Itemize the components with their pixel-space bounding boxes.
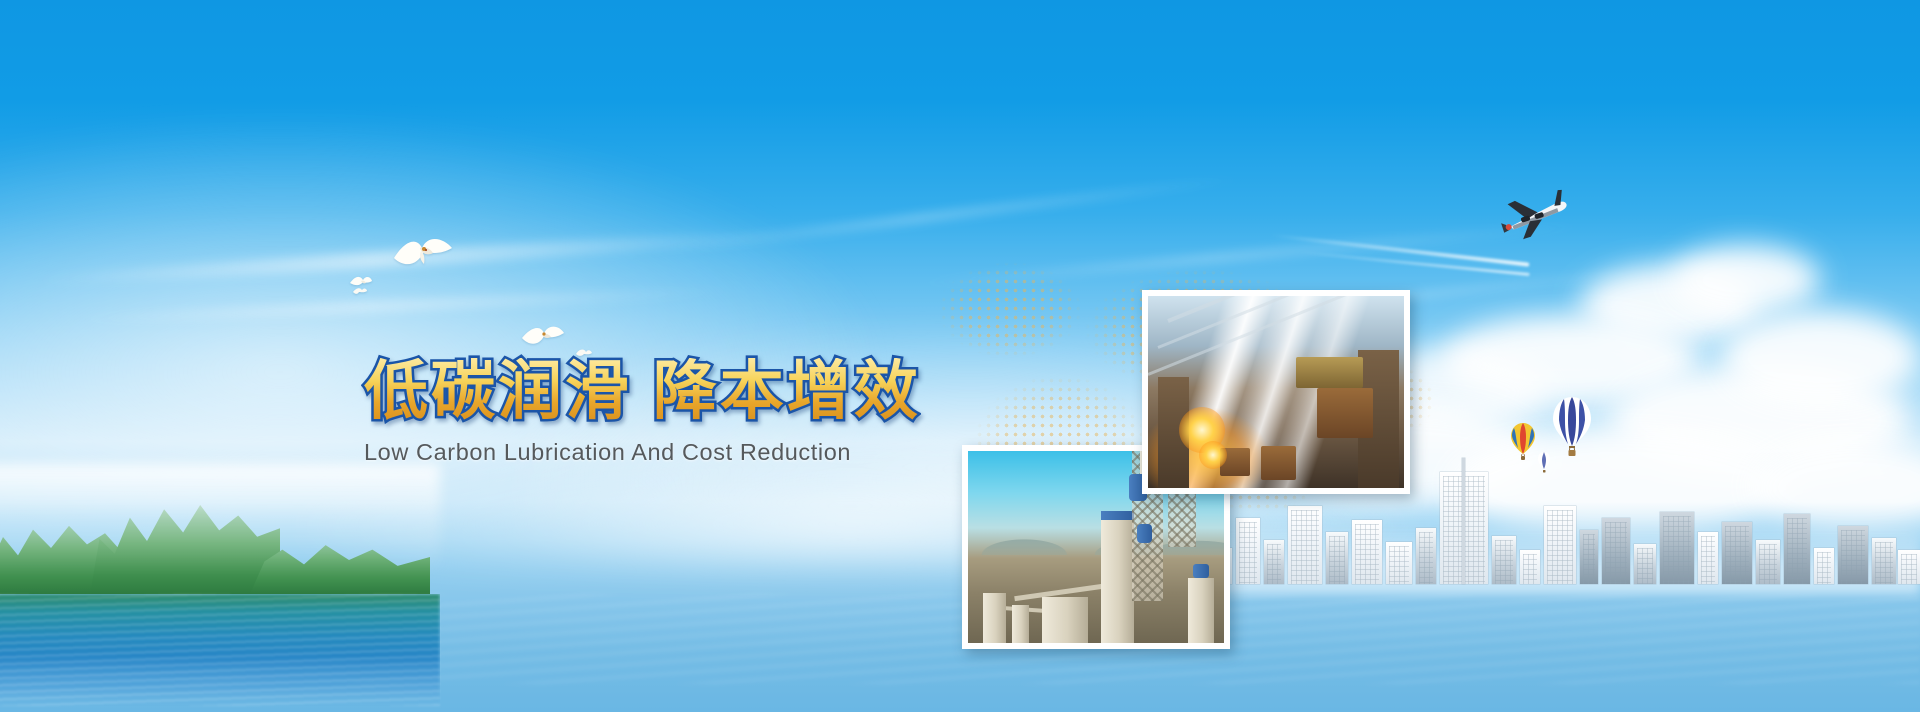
cone-unit (1188, 578, 1214, 643)
building (1784, 514, 1810, 584)
building (1872, 538, 1896, 584)
building (1602, 518, 1630, 584)
headline-wrap: 低碳润滑 降本增效 低碳润滑 降本增效 (364, 358, 921, 425)
building (1838, 526, 1868, 584)
building (1660, 512, 1694, 584)
dove-2 (390, 228, 456, 276)
building (1580, 530, 1598, 584)
building (1756, 540, 1780, 584)
dove-4 (520, 318, 566, 352)
cloud-shape (1670, 245, 1820, 315)
building (1264, 540, 1284, 584)
building (1814, 548, 1834, 584)
page-subtitle: Low Carbon Lubrication And Cost Reductio… (364, 439, 921, 466)
building (1288, 506, 1322, 584)
balloon-small (1537, 451, 1551, 478)
building-block (1042, 597, 1088, 643)
building (1698, 532, 1718, 584)
dove-3 (352, 285, 368, 297)
banner-text-block: 低碳润滑 降本增效 低碳润滑 降本增效 Low Carbon Lubricati… (364, 358, 921, 466)
photo-factory[interactable] (1142, 290, 1410, 494)
steel-mill-scene (1148, 296, 1404, 488)
balloon-striped-blue (1552, 396, 1592, 463)
building (1544, 506, 1576, 584)
building (1326, 532, 1348, 584)
machine-block (1296, 357, 1363, 388)
ladle (1317, 388, 1373, 438)
photo-factory-image (1148, 296, 1404, 488)
building (1722, 522, 1752, 584)
antenna (1462, 458, 1465, 584)
balloon-colorful (1510, 422, 1536, 467)
building (1634, 544, 1656, 584)
silo (1012, 605, 1030, 643)
silo-main (1101, 520, 1134, 643)
furnace-glow (1199, 441, 1227, 469)
banner-hero: 低碳润滑 降本增效 低碳润滑 降本增效 Low Carbon Lubricati… (0, 0, 1920, 712)
ladle (1261, 446, 1297, 481)
cyclone-blue (1137, 524, 1152, 543)
blue-unit (1193, 564, 1208, 577)
page-title: 低碳润滑 降本增效 (364, 358, 921, 425)
cloud-shape (1720, 310, 1920, 405)
mountain-haze (0, 464, 440, 574)
building (1386, 542, 1412, 584)
building (1520, 550, 1540, 584)
building (1236, 518, 1260, 584)
building (1416, 528, 1436, 584)
silo-cap (1101, 511, 1134, 521)
building (1898, 550, 1920, 584)
island-reflection-ripple (0, 594, 440, 706)
airplane (1498, 188, 1574, 245)
silo (983, 593, 1006, 643)
green-mountain-island (0, 464, 450, 594)
building (1352, 520, 1382, 584)
building (1492, 536, 1516, 584)
